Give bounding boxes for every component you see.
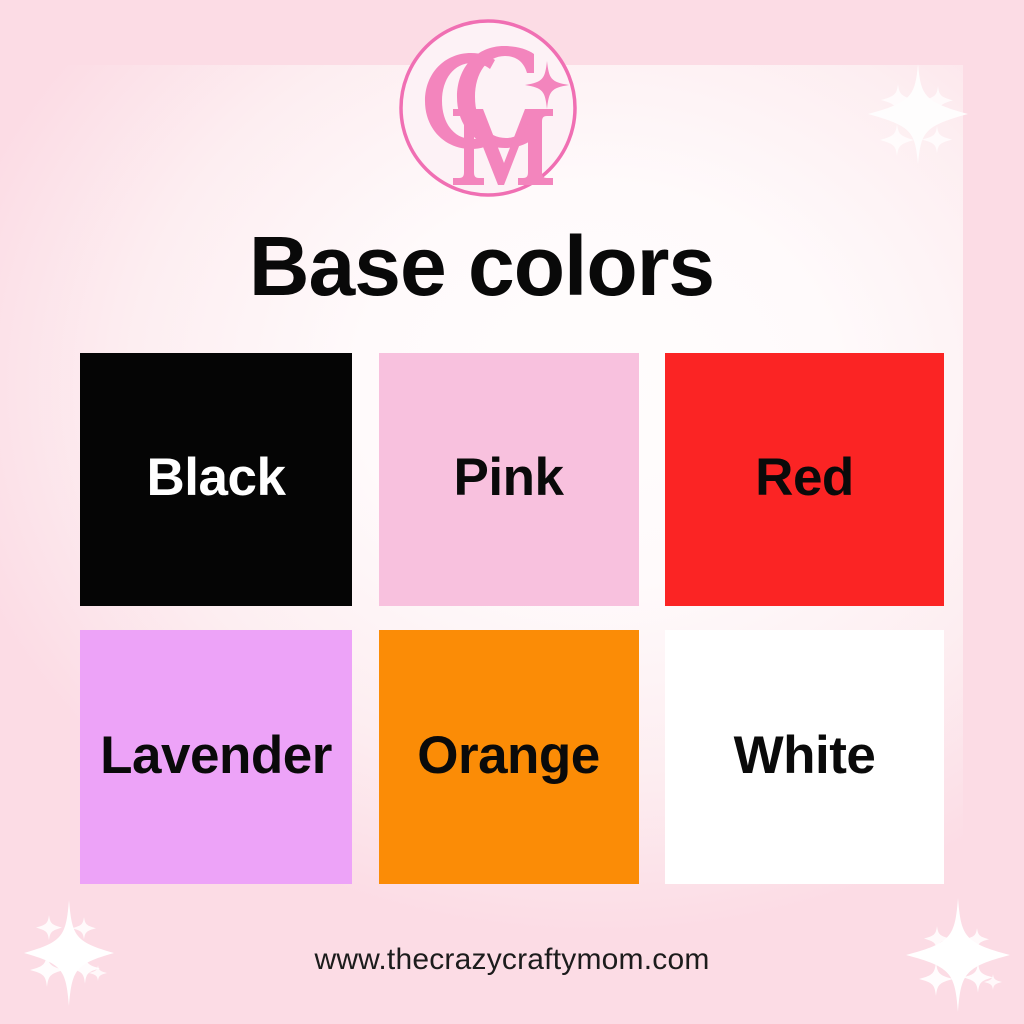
color-swatch-pink[interactable]: Pink	[379, 353, 639, 606]
color-swatch-orange[interactable]: Orange	[379, 630, 639, 884]
swatch-label-lavender: Lavender	[100, 729, 332, 782]
swatch-label-red: Red	[755, 451, 854, 504]
color-swatch-black[interactable]: Black	[80, 353, 352, 606]
swatch-label-pink: Pink	[454, 451, 564, 504]
color-swatch-white[interactable]: White	[665, 630, 944, 884]
color-swatch-red[interactable]: Red	[665, 353, 944, 606]
swatch-label-white: White	[734, 729, 876, 782]
graphic-canvas: Base colors Black Pink Red Lavender Oran…	[0, 0, 1024, 1024]
swatch-label-black: Black	[147, 451, 286, 504]
swatch-label-orange: Orange	[417, 729, 600, 782]
page-title: Base colors	[0, 222, 963, 310]
color-swatch-lavender[interactable]: Lavender	[80, 630, 352, 884]
sparkle-icon-top-right	[862, 58, 974, 170]
brand-logo	[397, 17, 579, 199]
footer-website-url: www.thecrazycraftymom.com	[0, 943, 1024, 977]
color-swatch-grid: Black Pink Red Lavender Orange White	[80, 353, 944, 884]
